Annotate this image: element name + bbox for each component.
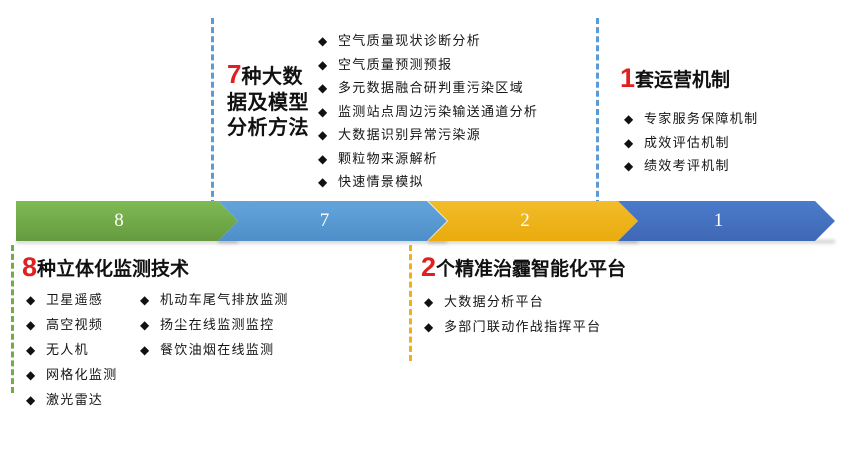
methods-heading-line-3: 分析方法 bbox=[227, 117, 309, 139]
divider-bottom-left bbox=[11, 245, 14, 393]
list-item: ◆专家服务保障机制 bbox=[624, 108, 758, 132]
operations-item-1: 成效评估机制 bbox=[644, 136, 730, 151]
monitoring-heading: 8种立体化监测技术 bbox=[22, 252, 189, 282]
methods-number: 7 bbox=[227, 59, 241, 89]
methods-item-3: 监测站点周边污染输送通道分析 bbox=[338, 105, 538, 120]
methods-item-1: 空气质量预测预报 bbox=[338, 58, 452, 73]
diamond-bullet-icon: ◆ bbox=[26, 313, 46, 337]
diamond-bullet-icon: ◆ bbox=[624, 132, 644, 155]
chevron-banner: 8 7 2 1 bbox=[0, 201, 854, 241]
platforms-number: 2 bbox=[421, 252, 436, 282]
monitoring-item-c1-1: 高空视频 bbox=[46, 318, 103, 333]
methods-heading-line-2: 据及模型 bbox=[227, 92, 309, 114]
list-item: ◆成效评估机制 bbox=[624, 132, 758, 156]
list-item: ◆颗粒物来源解析 bbox=[318, 148, 538, 172]
banner-segment-1-value: 1 bbox=[714, 210, 724, 232]
list-item: ◆空气质量现状诊断分析 bbox=[318, 30, 538, 54]
diamond-bullet-icon: ◆ bbox=[424, 315, 444, 339]
list-item: ◆无人机 bbox=[26, 338, 118, 363]
platforms-list: ◆大数据分析平台 ◆多部门联动作战指挥平台 bbox=[424, 290, 601, 340]
list-item: ◆多元数据融合研判重污染区域 bbox=[318, 77, 538, 101]
diamond-bullet-icon: ◆ bbox=[424, 290, 444, 314]
list-item: ◆高空视频 bbox=[26, 313, 118, 338]
diamond-bullet-icon: ◆ bbox=[26, 288, 46, 312]
list-item: ◆大数据识别异常污染源 bbox=[318, 124, 538, 148]
list-item: ◆机动车尾气排放监测 bbox=[140, 288, 289, 313]
methods-item-5: 颗粒物来源解析 bbox=[338, 152, 438, 167]
diamond-bullet-icon: ◆ bbox=[318, 54, 338, 77]
monitoring-item-c2-0: 机动车尾气排放监测 bbox=[160, 293, 289, 308]
diamond-bullet-icon: ◆ bbox=[318, 77, 338, 100]
banner-segment-8[interactable]: 8 bbox=[16, 201, 238, 241]
divider-top-right bbox=[596, 18, 599, 206]
methods-item-4: 大数据识别异常污染源 bbox=[338, 128, 481, 143]
platforms-item-1: 多部门联动作战指挥平台 bbox=[444, 320, 601, 335]
list-item: ◆多部门联动作战指挥平台 bbox=[424, 315, 601, 340]
operations-list: ◆专家服务保障机制 ◆成效评估机制 ◆绩效考评机制 bbox=[624, 108, 758, 179]
operations-item-0: 专家服务保障机制 bbox=[644, 112, 758, 127]
operations-heading-label: 套运营机制 bbox=[635, 70, 730, 91]
diamond-bullet-icon: ◆ bbox=[318, 101, 338, 124]
monitoring-number: 8 bbox=[22, 252, 37, 282]
banner-segment-7-value: 7 bbox=[320, 210, 330, 232]
banner-segment-2[interactable]: 2 bbox=[428, 201, 638, 241]
monitoring-item-c1-2: 无人机 bbox=[46, 343, 89, 358]
list-item: ◆激光雷达 bbox=[26, 388, 118, 413]
platforms-heading: 2个精准治霾智能化平台 bbox=[421, 252, 626, 282]
diamond-bullet-icon: ◆ bbox=[318, 30, 338, 53]
diamond-bullet-icon: ◆ bbox=[26, 338, 46, 362]
banner-segment-8-value: 8 bbox=[114, 210, 124, 232]
list-item: ◆餐饮油烟在线监测 bbox=[140, 338, 289, 363]
operations-number: 1 bbox=[620, 63, 635, 93]
monitoring-item-c2-1: 扬尘在线监测监控 bbox=[160, 318, 274, 333]
diamond-bullet-icon: ◆ bbox=[318, 148, 338, 171]
diamond-bullet-icon: ◆ bbox=[624, 155, 644, 178]
list-item: ◆网格化监测 bbox=[26, 363, 118, 388]
diamond-bullet-icon: ◆ bbox=[318, 171, 338, 194]
monitoring-item-c1-0: 卫星遥感 bbox=[46, 293, 103, 308]
methods-item-2: 多元数据融合研判重污染区域 bbox=[338, 81, 524, 96]
methods-list: ◆空气质量现状诊断分析 ◆空气质量预测预报 ◆多元数据融合研判重污染区域 ◆监测… bbox=[318, 30, 538, 195]
monitoring-heading-label: 种立体化监测技术 bbox=[37, 259, 189, 280]
list-item: ◆绩效考评机制 bbox=[624, 155, 758, 179]
diamond-bullet-icon: ◆ bbox=[140, 338, 160, 362]
platforms-item-0: 大数据分析平台 bbox=[444, 295, 544, 310]
monitoring-item-c2-2: 餐饮油烟在线监测 bbox=[160, 343, 274, 358]
diamond-bullet-icon: ◆ bbox=[140, 313, 160, 337]
list-item: ◆快速情景模拟 bbox=[318, 171, 538, 195]
banner-segment-2-value: 2 bbox=[520, 210, 530, 232]
methods-item-0: 空气质量现状诊断分析 bbox=[338, 34, 481, 49]
diamond-bullet-icon: ◆ bbox=[26, 388, 46, 412]
monitoring-item-c1-4: 激光雷达 bbox=[46, 393, 103, 408]
banner-segment-1[interactable]: 1 bbox=[618, 201, 835, 241]
banner-segment-7[interactable]: 7 bbox=[218, 201, 447, 241]
methods-item-6: 快速情景模拟 bbox=[338, 175, 424, 190]
divider-top-left bbox=[211, 18, 214, 206]
list-item: ◆监测站点周边污染输送通道分析 bbox=[318, 101, 538, 125]
methods-heading-line-1: 种大数 bbox=[241, 66, 303, 88]
list-item: ◆空气质量预测预报 bbox=[318, 54, 538, 78]
operations-heading: 1套运营机制 bbox=[620, 63, 730, 93]
monitoring-list-column-2: ◆机动车尾气排放监测 ◆扬尘在线监测监控 ◆餐饮油烟在线监测 bbox=[140, 288, 289, 363]
monitoring-item-c1-3: 网格化监测 bbox=[46, 368, 118, 383]
diamond-bullet-icon: ◆ bbox=[318, 124, 338, 147]
list-item: ◆大数据分析平台 bbox=[424, 290, 601, 315]
list-item: ◆卫星遥感 bbox=[26, 288, 118, 313]
diamond-bullet-icon: ◆ bbox=[26, 363, 46, 387]
platforms-heading-label: 个精准治霾智能化平台 bbox=[436, 259, 626, 280]
divider-bottom-mid-left bbox=[409, 245, 412, 361]
monitoring-list-column-1: ◆卫星遥感 ◆高空视频 ◆无人机 ◆网格化监测 ◆激光雷达 bbox=[26, 288, 118, 413]
list-item: ◆扬尘在线监测监控 bbox=[140, 313, 289, 338]
operations-item-2: 绩效考评机制 bbox=[644, 159, 730, 174]
methods-heading: 7种大数 据及模型 分析方法 bbox=[227, 58, 309, 141]
diamond-bullet-icon: ◆ bbox=[624, 108, 644, 131]
diamond-bullet-icon: ◆ bbox=[140, 288, 160, 312]
